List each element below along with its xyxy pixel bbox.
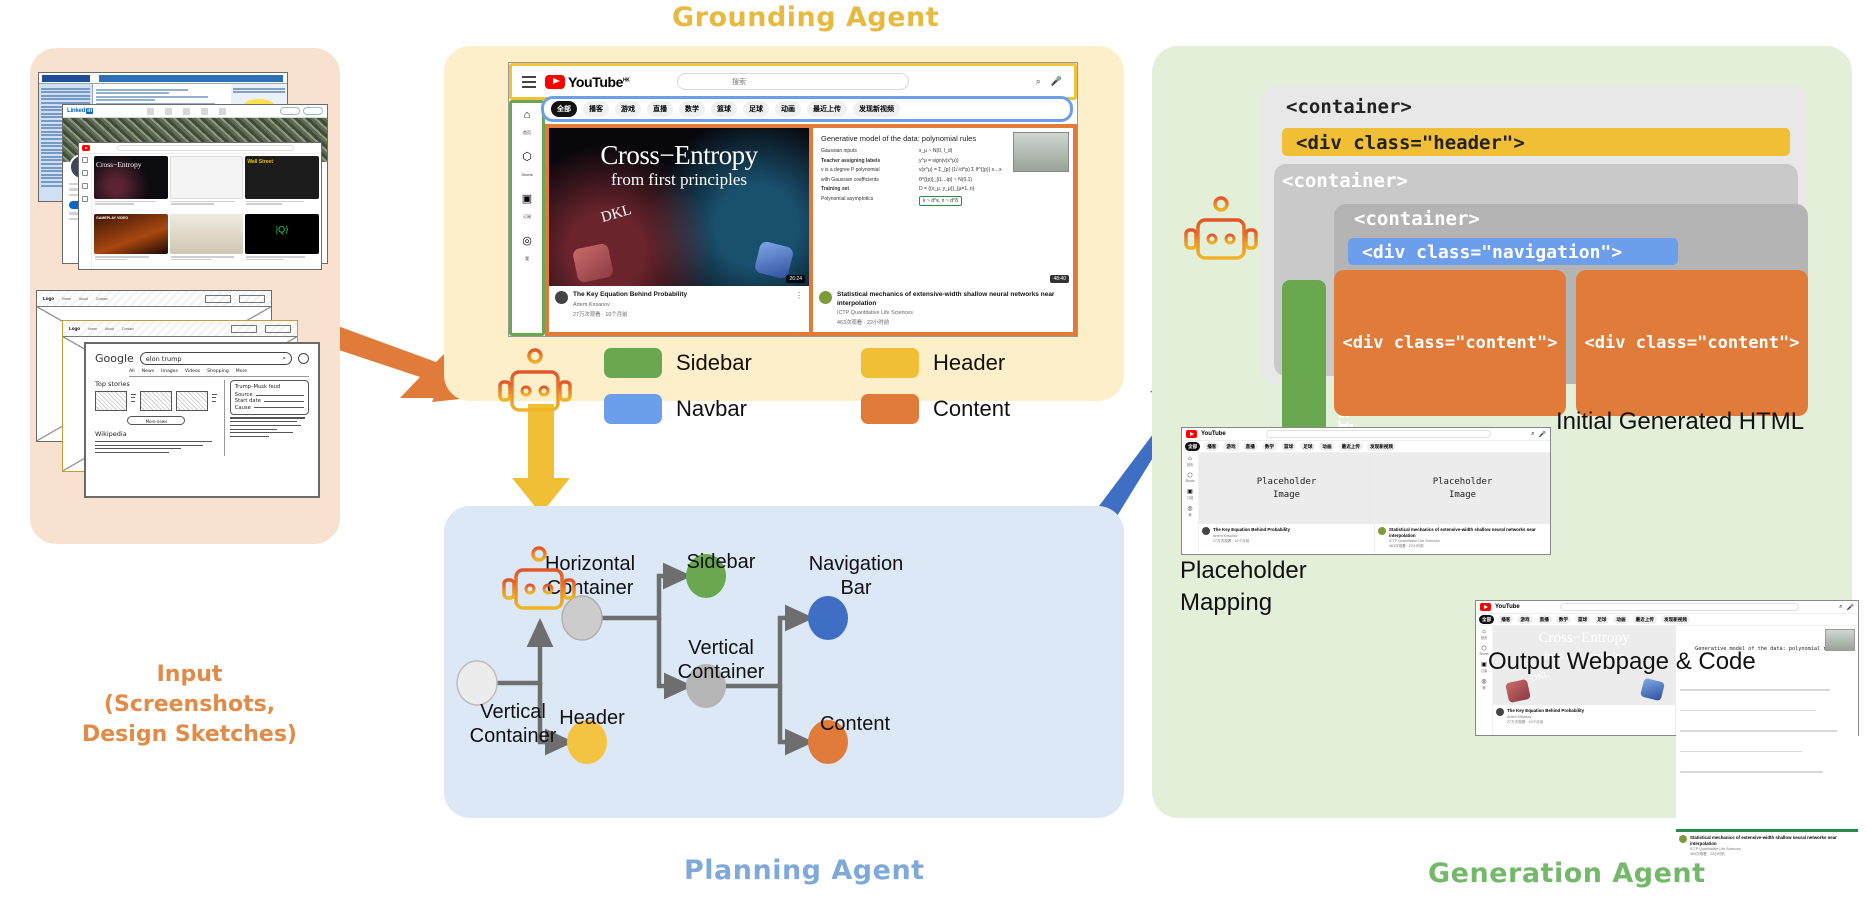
- legend-label-header: Header: [933, 350, 1104, 376]
- nav-chip-podcast[interactable]: 播客: [1498, 615, 1513, 624]
- content-region-highlight: Cross−Entropy from first principles DKL …: [545, 124, 1077, 336]
- eq-formula: D = {(x_μ, y_μ)}_{μ=1..n}: [919, 186, 974, 192]
- nav-chip-live[interactable]: 直播: [1243, 442, 1258, 451]
- nav-chip-animation[interactable]: 动画: [1319, 442, 1334, 451]
- channel-avatar: [1679, 835, 1687, 843]
- legend-swatch-sidebar: [604, 348, 662, 378]
- video-title: The Key Equation Behind Probability: [1507, 708, 1584, 714]
- linkedin-logo: Linkedin: [67, 108, 93, 114]
- input-sketch-google: Google elon trump ⌕ All News Images Vide…: [84, 342, 320, 498]
- nav-chip-football[interactable]: 足球: [743, 101, 769, 117]
- eq-label: with Gaussian coefficients: [821, 177, 913, 183]
- code-tag-container-outer: <container>: [1286, 96, 1412, 118]
- sidebar: ⌂首页 ⬡Shorts ▣订阅 ◎我: [1182, 453, 1199, 554]
- node-label-header: Header: [537, 706, 647, 730]
- video-thumbnail[interactable]: Cross−Entropy from first principles DKL …: [549, 128, 809, 286]
- sketch-login-button[interactable]: [205, 295, 231, 303]
- dice-blue-icon: [1640, 678, 1665, 702]
- profile-icon: ◎: [512, 234, 542, 247]
- caption-initial-generated-html: Initial Generated HTML: [1556, 408, 1804, 436]
- nav-chip-math[interactable]: 数学: [1262, 442, 1277, 451]
- hamburger-icon[interactable]: [522, 73, 536, 91]
- search-icon[interactable]: ⌕: [1036, 76, 1041, 87]
- robot-icon: [496, 546, 582, 620]
- thumb-title-line2: from first principles: [611, 170, 747, 190]
- thumb-title-line1: Cross−Entropy: [1539, 632, 1630, 645]
- node-label-navbar: Navigation Bar: [786, 552, 926, 600]
- nav-chip-all[interactable]: 全部: [551, 101, 577, 117]
- search-icon[interactable]: ⌕: [282, 354, 286, 363]
- placeholder-image: Placeholder Image: [1375, 453, 1550, 524]
- video-stats: 27万次观看 · 10个月前: [1213, 539, 1290, 544]
- legend-label-content: Content: [933, 396, 1104, 422]
- code-tag-content-left: <div class="content">: [1343, 333, 1558, 353]
- video-title: The Key Equation Behind Probability: [1213, 527, 1290, 533]
- nav-chip-podcast[interactable]: 播客: [583, 101, 609, 117]
- legend-label-navbar: Navbar: [676, 396, 847, 422]
- dice-red-icon: [572, 243, 614, 284]
- video-stats: 463次观看 · 22小时前: [837, 318, 1067, 326]
- profile-icon[interactable]: ◎: [1476, 678, 1492, 685]
- video-title: Statistical mechanics of extensive-width…: [1389, 527, 1547, 538]
- youtube-play-icon: [1186, 430, 1197, 438]
- nav-chip-live[interactable]: 直播: [647, 101, 673, 117]
- nav-chip-all[interactable]: 全部: [1479, 615, 1494, 624]
- video-stats: 27万次观看 · 10个月前: [1507, 720, 1584, 725]
- nav-chip-math[interactable]: 数学: [1556, 615, 1571, 624]
- nav-chip-recent[interactable]: 最近上传: [1339, 442, 1363, 451]
- sidebar-item-shorts[interactable]: ⬡Shorts: [512, 150, 542, 181]
- code-tag-header: <div class="header">: [1296, 132, 1525, 154]
- kp-row-source: Source: [235, 392, 253, 398]
- sketch-nav-contact: Contact: [96, 297, 108, 301]
- thumb-title-line1: Cross−Entropy: [600, 140, 757, 171]
- kp-title: Trump–Musk feud: [235, 384, 304, 390]
- tab-news[interactable]: News: [142, 369, 154, 374]
- video-card[interactable]: Generative model of the data: polynomial…: [813, 128, 1073, 332]
- more-news-button[interactable]: More news: [127, 416, 185, 425]
- search-input[interactable]: [1560, 603, 1799, 611]
- story-thumb: [95, 391, 127, 411]
- top-stories-heading: Top stories: [95, 380, 218, 388]
- header-region-highlight: YouTubeHK 搜索 ⌕ 🎤: [509, 63, 1077, 100]
- microphone-icon[interactable]: 🎤: [1539, 431, 1546, 438]
- nav-chip-podcast[interactable]: 播客: [1204, 442, 1219, 451]
- code-tag-container-inner: <container>: [1354, 208, 1480, 230]
- avatar[interactable]: [298, 353, 309, 364]
- kp-row-cause: Cause: [235, 405, 251, 411]
- sketch-logo: Logo: [43, 296, 54, 301]
- search-icon[interactable]: ⌕: [1531, 431, 1534, 438]
- input-caption: Input (Screenshots, Design Sketches): [62, 660, 317, 750]
- code-tag-container-mid: <container>: [1282, 170, 1408, 192]
- profile-icon[interactable]: ◎: [1182, 505, 1198, 512]
- nav-chip-animation[interactable]: 动画: [1613, 615, 1628, 624]
- node-label-sidebar: Sidebar: [661, 550, 781, 574]
- wikipedia-heading: Wikipedia: [95, 430, 218, 438]
- kp-row-startdate: Start date: [235, 398, 261, 404]
- sketch2-login-button[interactable]: [231, 325, 257, 333]
- sketch-signup-button[interactable]: [239, 295, 265, 303]
- search-input[interactable]: [117, 145, 294, 151]
- home-icon: ⌂: [512, 109, 542, 121]
- google-tabs: All News Images Videos Shopping More: [129, 369, 309, 377]
- progress-bar: [1676, 829, 1858, 832]
- video-title[interactable]: Statistical mechanics of extensive-width…: [837, 291, 1067, 308]
- node-navbar: [808, 596, 848, 640]
- story-thumb: [140, 391, 172, 411]
- tab-images[interactable]: Images: [161, 369, 178, 374]
- dice-red-icon: [1505, 679, 1531, 703]
- nav-chip-basketball[interactable]: 篮球: [1575, 615, 1590, 624]
- nav-chip-all[interactable]: 全部: [1185, 442, 1200, 451]
- planning-agent-title: Planning Agent: [684, 855, 925, 886]
- nav-chip-games[interactable]: 游戏: [615, 101, 641, 117]
- caption-output-webpage: Output Webpage & Code: [1488, 648, 1756, 676]
- sidebar-item-home[interactable]: ⌂首页: [512, 109, 542, 139]
- robot-icon: [492, 348, 578, 422]
- sketch-nav-home: Home: [62, 297, 71, 301]
- channel-name: Artem Kirsanov: [1507, 715, 1584, 719]
- navigation-bar: 全部 播客 游戏 直播 数学 篮球 足球 动画 最近上传 发现新视频: [1182, 441, 1550, 453]
- microphone-icon[interactable]: 🎤: [1847, 604, 1854, 611]
- story-thumb: [176, 391, 208, 411]
- channel-name: Artem Kirsanov: [1213, 534, 1290, 538]
- video-thumbnail[interactable]: Generative model of the data: polynomial…: [813, 128, 1073, 286]
- nav-chip-math[interactable]: 数学: [679, 101, 705, 117]
- nav-chip-games[interactable]: 游戏: [1517, 615, 1532, 624]
- eq-label: v is a degree P polynomial: [821, 167, 913, 173]
- content-block-left: <div class="content">: [1334, 270, 1566, 416]
- video-card: Cross−Entropy from first principles DKL …: [1493, 626, 1676, 735]
- shorts-icon[interactable]: ⬡: [1182, 472, 1198, 479]
- code-tag-navigation: <div class="navigation">: [1362, 242, 1622, 263]
- youtube-logo[interactable]: YouTubeHK: [545, 74, 629, 90]
- node-label-vertical: Vertical Container: [651, 636, 791, 684]
- eq-label: Polynomial asymptotics: [821, 196, 913, 206]
- dice-blue-icon: [754, 240, 795, 279]
- google-logo: Google: [95, 352, 134, 365]
- sidebar-region-highlight: ⌂首页 ⬡Shorts ▣订阅 ◎我: [509, 100, 545, 336]
- nav-chip-football[interactable]: 足球: [1300, 442, 1315, 451]
- search-input[interactable]: elon trump ⌕: [140, 352, 292, 365]
- channel-name: ICTP Quantitative Life Sciences: [1389, 539, 1547, 543]
- nav-chip-discover[interactable]: 发现新视频: [1661, 615, 1690, 624]
- more-options-icon[interactable]: ⋮: [795, 291, 803, 327]
- presenter-webcam: [1825, 629, 1855, 651]
- sidebar: ⌂首页 ⬡Shorts ▣订阅 ◎我: [1476, 626, 1493, 735]
- video-stats: 463次观看 · 22小时前: [1690, 852, 1855, 857]
- channel-avatar: [1496, 708, 1504, 716]
- subscriptions-icon: ▣: [512, 192, 542, 205]
- video-duration: 26:24: [786, 275, 805, 283]
- legend-label-sidebar: Sidebar: [676, 350, 847, 376]
- channel-avatar: [1202, 527, 1210, 535]
- generation-agent-title: Generation Agent: [1428, 858, 1706, 889]
- nav-chip-basketball[interactable]: 篮球: [1281, 442, 1296, 451]
- nav-chip-live[interactable]: 直播: [1537, 615, 1552, 624]
- video-card: Generative model of the data: polynomial…: [1676, 626, 1858, 735]
- caption-placeholder-mapping: Placeholder Mapping: [1180, 555, 1307, 619]
- legend-swatch-navbar: [604, 394, 662, 424]
- nav-chip-recent[interactable]: 最近上传: [807, 101, 847, 117]
- tab-videos[interactable]: Videos: [185, 369, 200, 374]
- channel-avatar: [555, 291, 568, 304]
- eq-formula: x_μ ~ N(0, I_d): [919, 148, 952, 154]
- content-block-right: <div class="content">: [1576, 270, 1808, 416]
- nav-chip-recent[interactable]: 最近上传: [1633, 615, 1657, 624]
- brand-text: YouTube: [568, 74, 623, 90]
- nav-chip-games[interactable]: 游戏: [1223, 442, 1238, 451]
- eq-label: Teacher assigning labels: [821, 158, 880, 164]
- channel-name[interactable]: Artem Kirsanov: [573, 302, 687, 308]
- channel-avatar: [1378, 527, 1386, 535]
- robot-icon: [1178, 196, 1264, 270]
- diagram-canvas: Grounding Agent Planning Agent Generatio…: [0, 0, 1866, 906]
- video-title[interactable]: The Key Equation Behind Probability: [573, 291, 687, 300]
- knowledge-panel: Trump–Musk feud Source Start date Cause: [230, 380, 309, 415]
- eq-formula: y^μ = sign(v(x^μ)): [919, 158, 959, 164]
- eq-label: Gaussian inputs: [821, 148, 913, 154]
- tab-all[interactable]: All: [129, 369, 135, 374]
- node-label-content: Content: [790, 712, 920, 736]
- nav-chip-animation[interactable]: 动画: [775, 101, 801, 117]
- sketch-nav-about: About: [79, 297, 88, 301]
- search-input[interactable]: 搜索: [677, 73, 909, 90]
- sidebar-item-profile[interactable]: ◎我: [512, 234, 542, 265]
- tab-shopping[interactable]: Shopping: [207, 369, 229, 374]
- eq-formula: θ^{(p)}_{i1…ip} ~ N(0,1): [919, 177, 972, 183]
- sketch-logo-2: Logo: [69, 326, 80, 331]
- search-input[interactable]: [1266, 430, 1491, 438]
- video-stats: 27万次观看 · 10个月前: [573, 310, 687, 318]
- video-stats: 463次观看 · 22小时前: [1389, 544, 1547, 549]
- grounding-browser-mock: YouTubeHK 搜索 ⌕ 🎤 ⌂首页 ⬡Shorts ▣订阅 ◎我 全部 播…: [508, 62, 1078, 337]
- legend-swatch-header: [861, 348, 919, 378]
- code-tag-content-right: <div class="content">: [1585, 333, 1800, 353]
- navbar-region-highlight: 全部 播客 游戏 直播 数学 篮球 足球 动画 最近上传 发现新视频: [541, 96, 1073, 122]
- search-icon[interactable]: ⌕: [1839, 604, 1842, 611]
- search-query: elon trump: [146, 355, 182, 363]
- youtube-play-icon: [1480, 603, 1491, 611]
- nav-chip-football[interactable]: 足球: [1594, 615, 1609, 624]
- video-duration: 48:40: [1050, 275, 1069, 283]
- youtube-play-icon: [82, 145, 90, 151]
- navigation-bar: 全部 播客 游戏 直播 数学 篮球 足球 动画 最近上传 发现新视频: [1476, 614, 1858, 626]
- video-title: Statistical mechanics of extensive-width…: [1690, 835, 1855, 846]
- youtube-play-icon: [545, 75, 565, 89]
- input-screenshot-youtube: [78, 142, 322, 270]
- channel-name: ICTP Quantitative Life Sciences: [1690, 847, 1855, 851]
- eq-label: Training set: [821, 186, 849, 192]
- grounding-agent-title: Grounding Agent: [672, 2, 939, 33]
- initial-generated-html-mock: YouTube ⌕ 🎤 全部 播客 游戏 直播 数学 篮球 足球 动画 最近上传…: [1181, 427, 1551, 555]
- thumb-annotation: DKL: [599, 202, 633, 227]
- video-card: Placeholder Image The Key Equation Behin…: [1199, 453, 1375, 554]
- channel-avatar: [819, 291, 832, 304]
- shorts-icon: ⬡: [512, 150, 542, 163]
- sidebar-item-subscriptions[interactable]: ▣订阅: [512, 192, 542, 223]
- sketch2-signup-button[interactable]: [265, 325, 291, 333]
- legend-swatch-content: [861, 394, 919, 424]
- video-card[interactable]: Cross−Entropy from first principles DKL …: [549, 128, 813, 332]
- region-legend: Sidebar Header Navbar Content: [604, 348, 1104, 424]
- channel-name[interactable]: ICTP Quantitative Life Sciences: [837, 310, 1067, 316]
- eq-formula-highlight: k ~ d^κ, n ~ d^δ: [919, 196, 962, 206]
- presenter-webcam: [1013, 132, 1069, 172]
- brand-superscript: HK: [623, 77, 629, 83]
- nav-chip-discover[interactable]: 发现新视频: [853, 101, 900, 117]
- eq-formula: v(x^μ) = Σ_{p} (1/√d^p) Σ θ^{(p)} x…x: [919, 167, 1002, 173]
- node-root: [457, 661, 497, 705]
- tab-more[interactable]: More: [236, 369, 247, 374]
- nav-chip-basketball[interactable]: 篮球: [711, 101, 737, 117]
- placeholder-image: Placeholder Image: [1199, 453, 1374, 524]
- video-card: Placeholder Image Statistical mechanics …: [1375, 453, 1550, 554]
- microphone-icon[interactable]: 🎤: [1051, 76, 1062, 87]
- nav-chip-discover[interactable]: 发现新视频: [1367, 442, 1396, 451]
- subscriptions-icon[interactable]: ▣: [1182, 488, 1198, 495]
